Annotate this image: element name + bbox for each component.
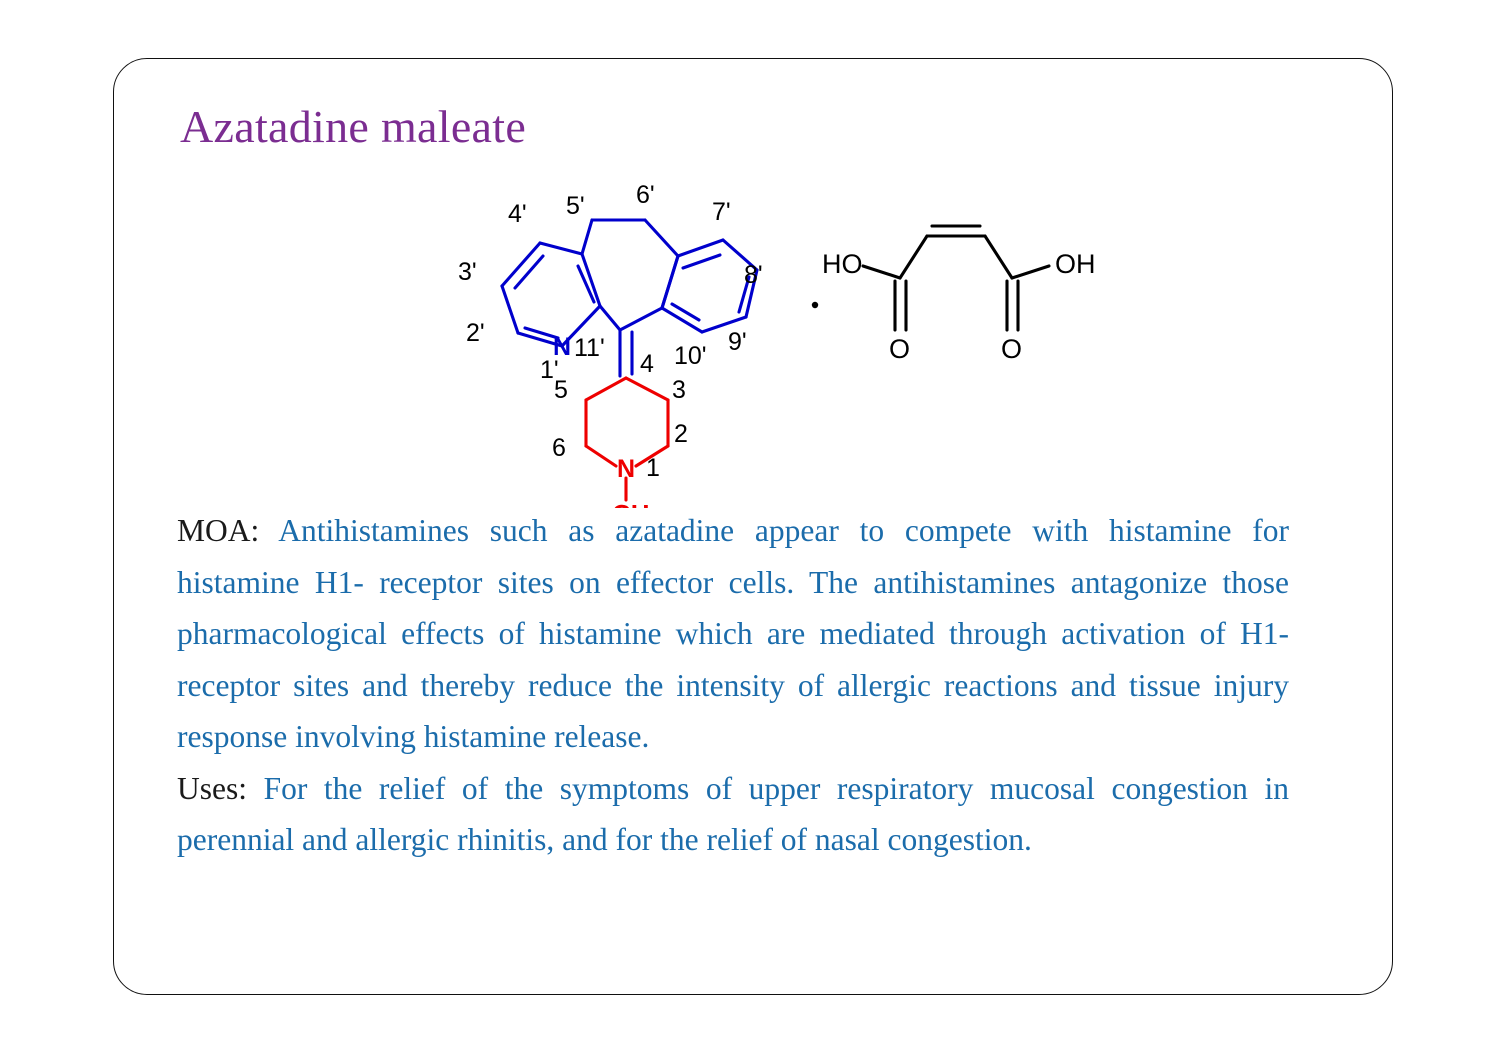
tricyclic-core-bonds bbox=[502, 220, 757, 376]
moa-paragraph: MOA: Antihistamines such as azatadine ap… bbox=[177, 505, 1289, 763]
locant-9-prime: 9' bbox=[728, 328, 747, 356]
uses-body: For the relief of the symptoms of upper … bbox=[177, 771, 1289, 858]
locant-7-prime: 7' bbox=[712, 198, 731, 226]
locant-6: 6 bbox=[552, 434, 566, 462]
uses-label: Uses: bbox=[177, 771, 247, 806]
maleic-acid-bonds bbox=[863, 226, 1049, 330]
page-title: Azatadine maleate bbox=[180, 100, 526, 153]
locant-3-prime: 3' bbox=[458, 258, 477, 286]
locant-2: 2 bbox=[674, 420, 688, 448]
chemical-structure-figure: N N CH3 4' 3' 2' 1' 5' 6' 7' 8' 9' 10' 1… bbox=[440, 178, 1140, 508]
salt-separator-dot bbox=[812, 302, 818, 308]
locant-11-prime: 11' bbox=[574, 334, 605, 362]
locant-10-prime: 10' bbox=[674, 342, 707, 370]
locant-5: 5 bbox=[554, 376, 568, 404]
locant-3: 3 bbox=[672, 376, 686, 404]
locant-5-prime: 5' bbox=[566, 192, 585, 220]
moa-label: MOA: bbox=[177, 513, 259, 548]
locant-numbers: 4' 3' 2' 1' 5' 6' 7' 8' 9' 10' 11' 4 3 2… bbox=[458, 181, 763, 482]
locant-8-prime: 8' bbox=[744, 261, 763, 289]
locant-6-prime: 6' bbox=[636, 181, 655, 209]
left-carbonyl-oxygen-label: O bbox=[889, 334, 910, 364]
azatadine-maleate-svg: N N CH3 4' 3' 2' 1' 5' 6' 7' 8' 9' 10' 1… bbox=[440, 178, 1140, 508]
right-hydroxyl-label: OH bbox=[1055, 249, 1096, 279]
right-carbonyl-oxygen-label: O bbox=[1001, 334, 1022, 364]
moa-body: Antihistamines such as azatadine appear … bbox=[177, 513, 1289, 754]
uses-paragraph: Uses: For the relief of the symptoms of … bbox=[177, 763, 1289, 866]
locant-1: 1 bbox=[646, 454, 660, 482]
slide-canvas: Azatadine maleate bbox=[0, 0, 1497, 1058]
left-hydroxyl-label: HO bbox=[822, 249, 863, 279]
piperidine-nitrogen-label: N bbox=[617, 455, 635, 483]
locant-2-prime: 2' bbox=[466, 319, 485, 347]
locant-4: 4 bbox=[640, 350, 654, 378]
description-text-block: MOA: Antihistamines such as azatadine ap… bbox=[177, 505, 1289, 866]
locant-4-prime: 4' bbox=[508, 200, 527, 228]
